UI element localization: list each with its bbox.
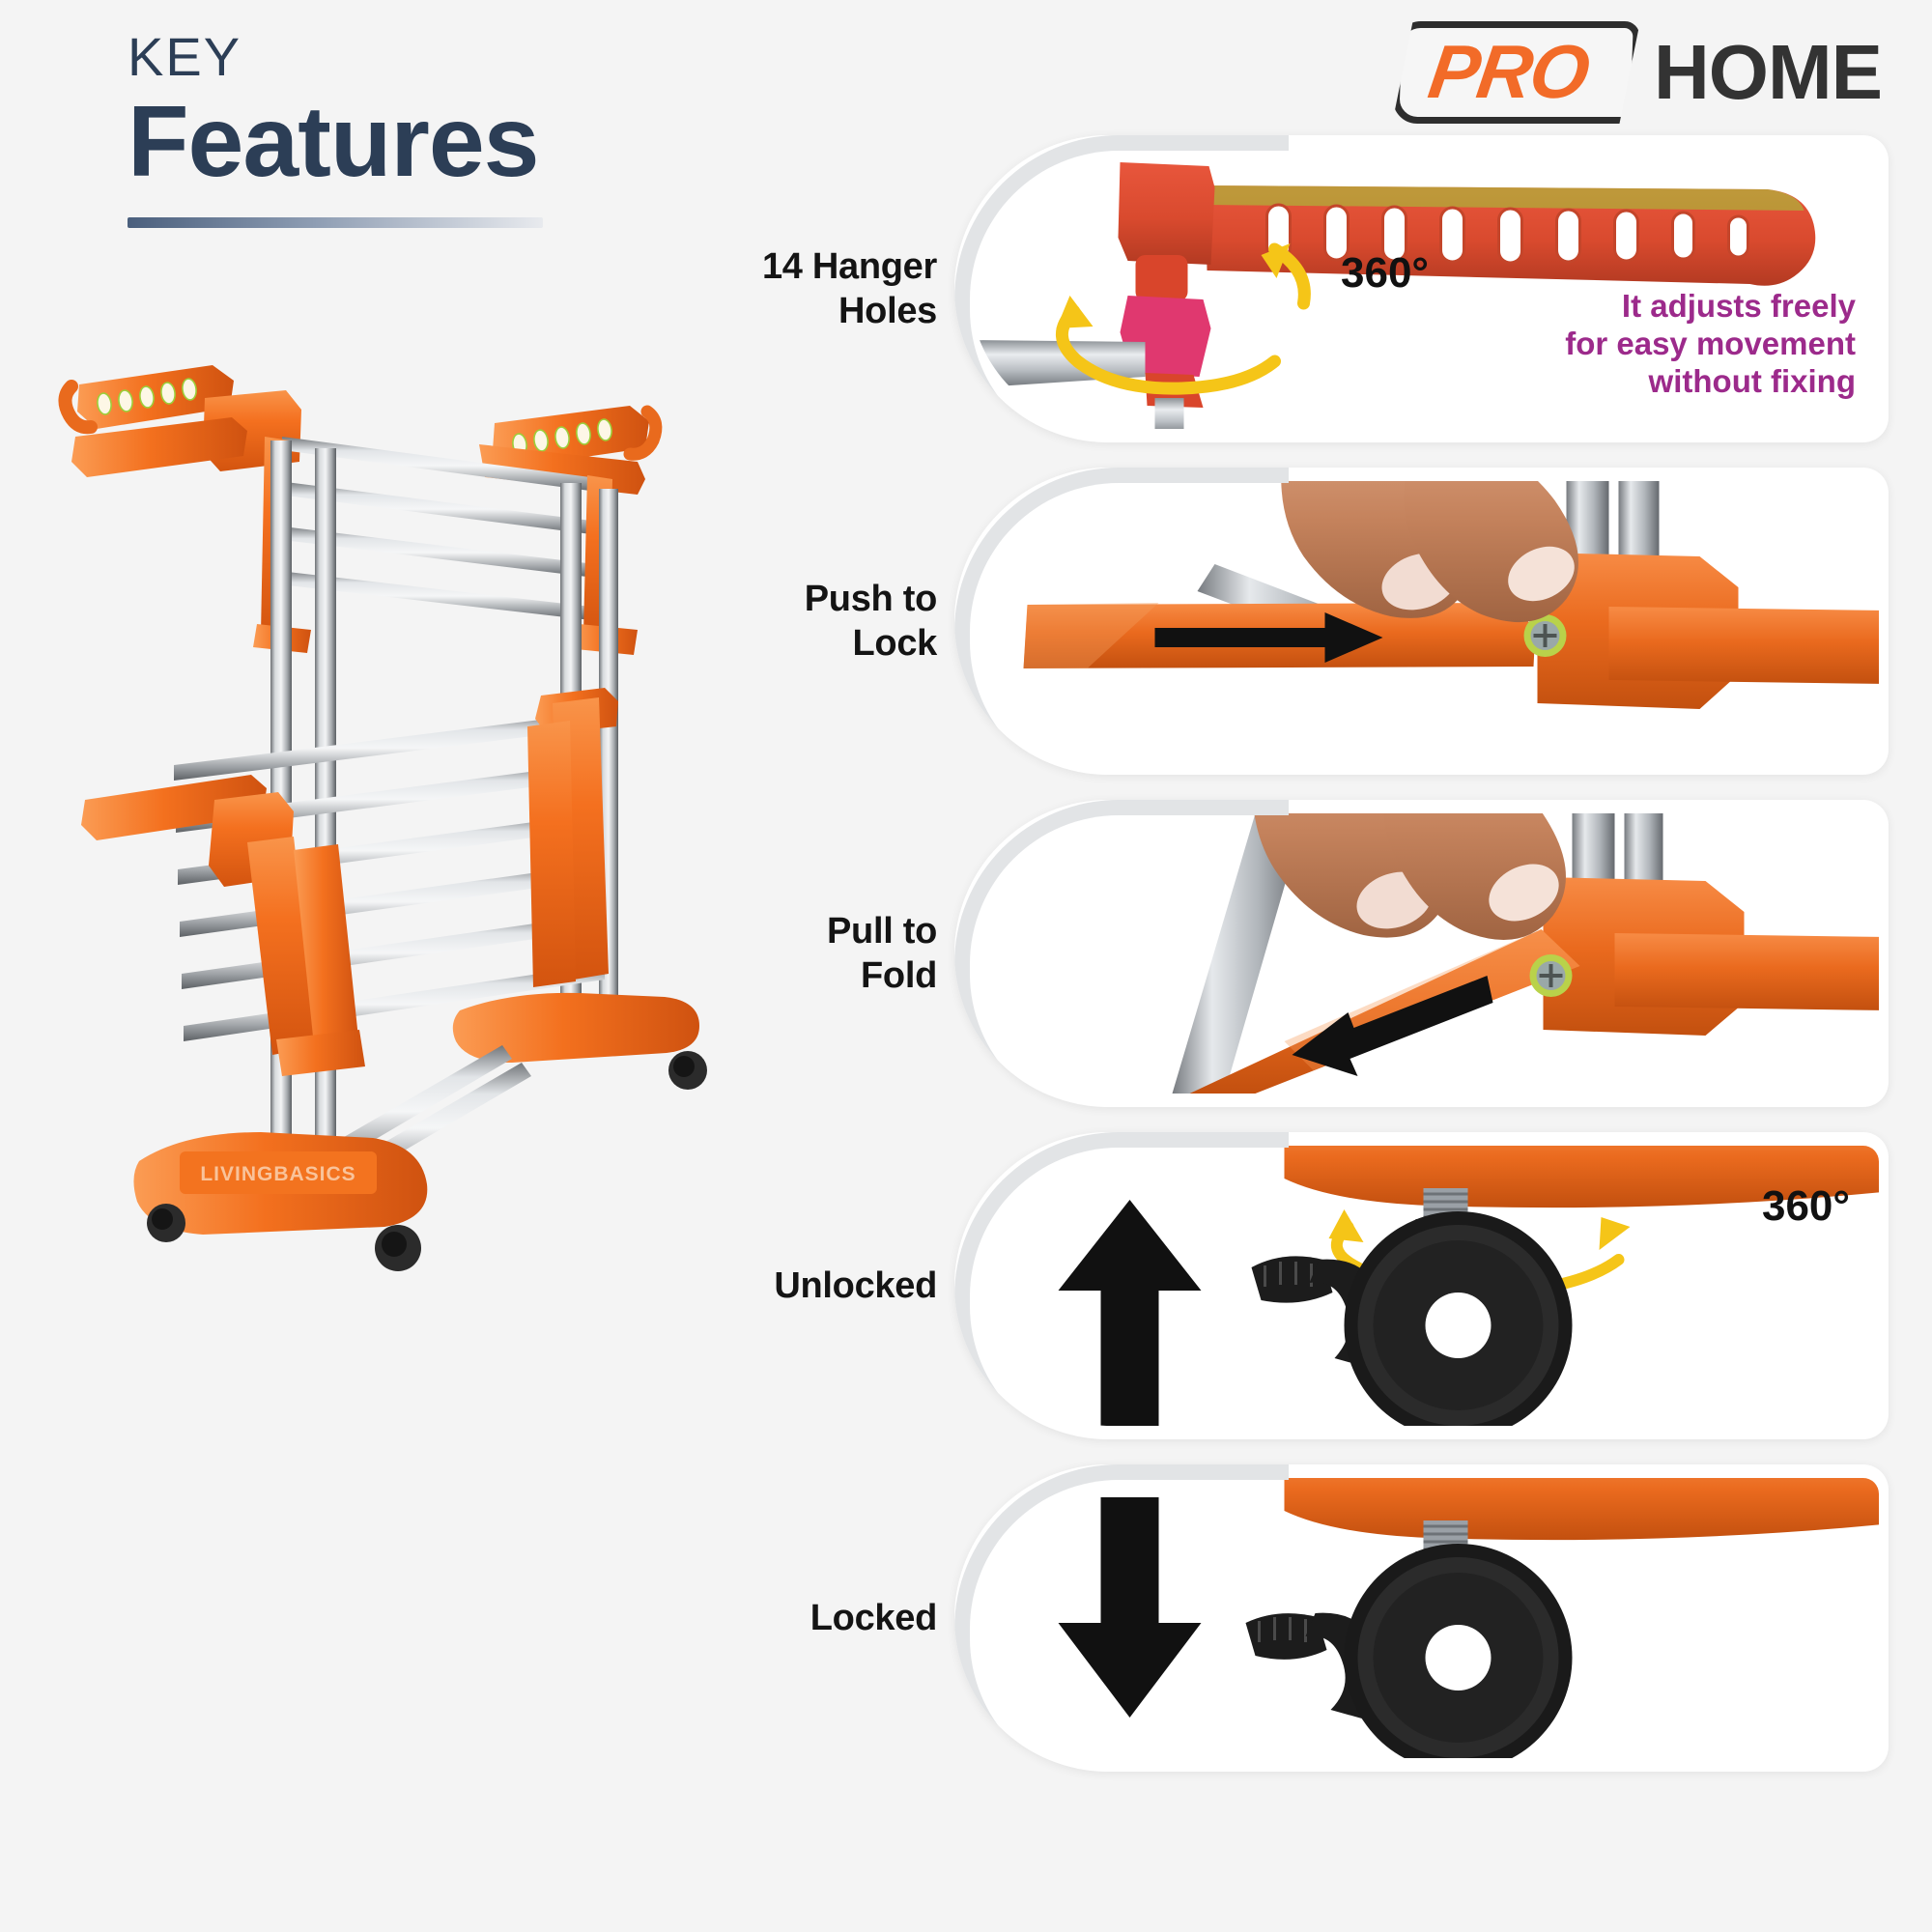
feature-label-line1: Unlocked <box>715 1264 937 1308</box>
feature-label-push-to-lock: Push to Lock <box>715 577 937 667</box>
feature-row-locked: Locked <box>715 1464 1889 1772</box>
feature-row-pull-to-fold: Pull to Fold <box>715 800 1889 1107</box>
note-line-3: without fixing <box>1565 363 1856 401</box>
feature-label-line1: Push to <box>715 577 937 621</box>
feature-card-pull-to-fold <box>954 800 1889 1107</box>
feature-card-unlocked: 360° <box>954 1132 1889 1439</box>
finger-pull-fold-icon <box>970 813 1879 1094</box>
feature-card-artwork-push-to-lock <box>970 481 1879 761</box>
feature-note-hanger-holes: It adjusts freely for easy movement with… <box>1565 288 1856 401</box>
feature-label-line1: Pull to <box>715 909 937 953</box>
feature-card-artwork-locked <box>970 1478 1879 1758</box>
badge-360-hanger: 360° <box>1341 249 1429 298</box>
title-kicker: KEY <box>128 29 726 86</box>
feature-card-push-to-lock <box>954 468 1889 775</box>
feature-panel-list: 14 Hanger Holes <box>715 135 1889 1874</box>
finger-push-lock-icon <box>970 481 1879 761</box>
feature-label-line2: Fold <box>715 953 937 998</box>
logo-pro-text: PRO <box>1425 34 1593 109</box>
down-arrow-icon <box>1059 1497 1202 1718</box>
brand-logo: PRO HOME <box>1394 21 1882 124</box>
caster-wheel-unlocked-icon <box>970 1146 1879 1426</box>
feature-card-locked <box>954 1464 1889 1772</box>
feature-card-hanger-holes: 360° It adjusts freely for easy movement… <box>954 135 1889 442</box>
feature-label-locked: Locked <box>715 1596 937 1640</box>
note-line-2: for easy movement <box>1565 326 1856 363</box>
svg-text:LIVINGBASICS: LIVINGBASICS <box>200 1163 355 1185</box>
page-title: KEY Features <box>128 29 726 228</box>
feature-row-unlocked: Unlocked <box>715 1132 1889 1439</box>
feature-label-line1: 14 Hanger <box>715 244 937 289</box>
title-headline: Features <box>128 92 726 192</box>
feature-label-hanger-holes: 14 Hanger Holes <box>715 244 937 334</box>
logo-home-text: HOME <box>1654 34 1882 111</box>
feature-card-artwork-unlocked <box>970 1146 1879 1426</box>
feature-label-line2: Holes <box>715 289 937 333</box>
feature-label-unlocked: Unlocked <box>715 1264 937 1308</box>
feature-label-line1: Locked <box>715 1596 937 1640</box>
feature-row-hanger-holes: 14 Hanger Holes <box>715 135 1889 442</box>
note-line-1: It adjusts freely <box>1565 288 1856 326</box>
up-arrow-icon <box>1059 1200 1202 1426</box>
logo-pro-badge: PRO <box>1392 21 1640 124</box>
product-image-clothes-drying-rack: LIVINGBASICS <box>58 348 715 1352</box>
base-foot-right <box>453 993 707 1090</box>
badge-360-unlocked: 360° <box>1762 1182 1850 1231</box>
feature-card-artwork-pull-to-fold <box>970 813 1879 1094</box>
caster-wheel-locked-icon <box>970 1478 1879 1758</box>
feature-label-pull-to-fold: Pull to Fold <box>715 909 937 999</box>
feature-label-line2: Lock <box>715 621 937 666</box>
title-underline-rule <box>128 217 543 228</box>
drying-rack-illustration: LIVINGBASICS <box>58 348 715 1352</box>
base-foot-front: LIVINGBASICS <box>133 1132 427 1271</box>
feature-row-push-to-lock: Push to Lock <box>715 468 1889 775</box>
